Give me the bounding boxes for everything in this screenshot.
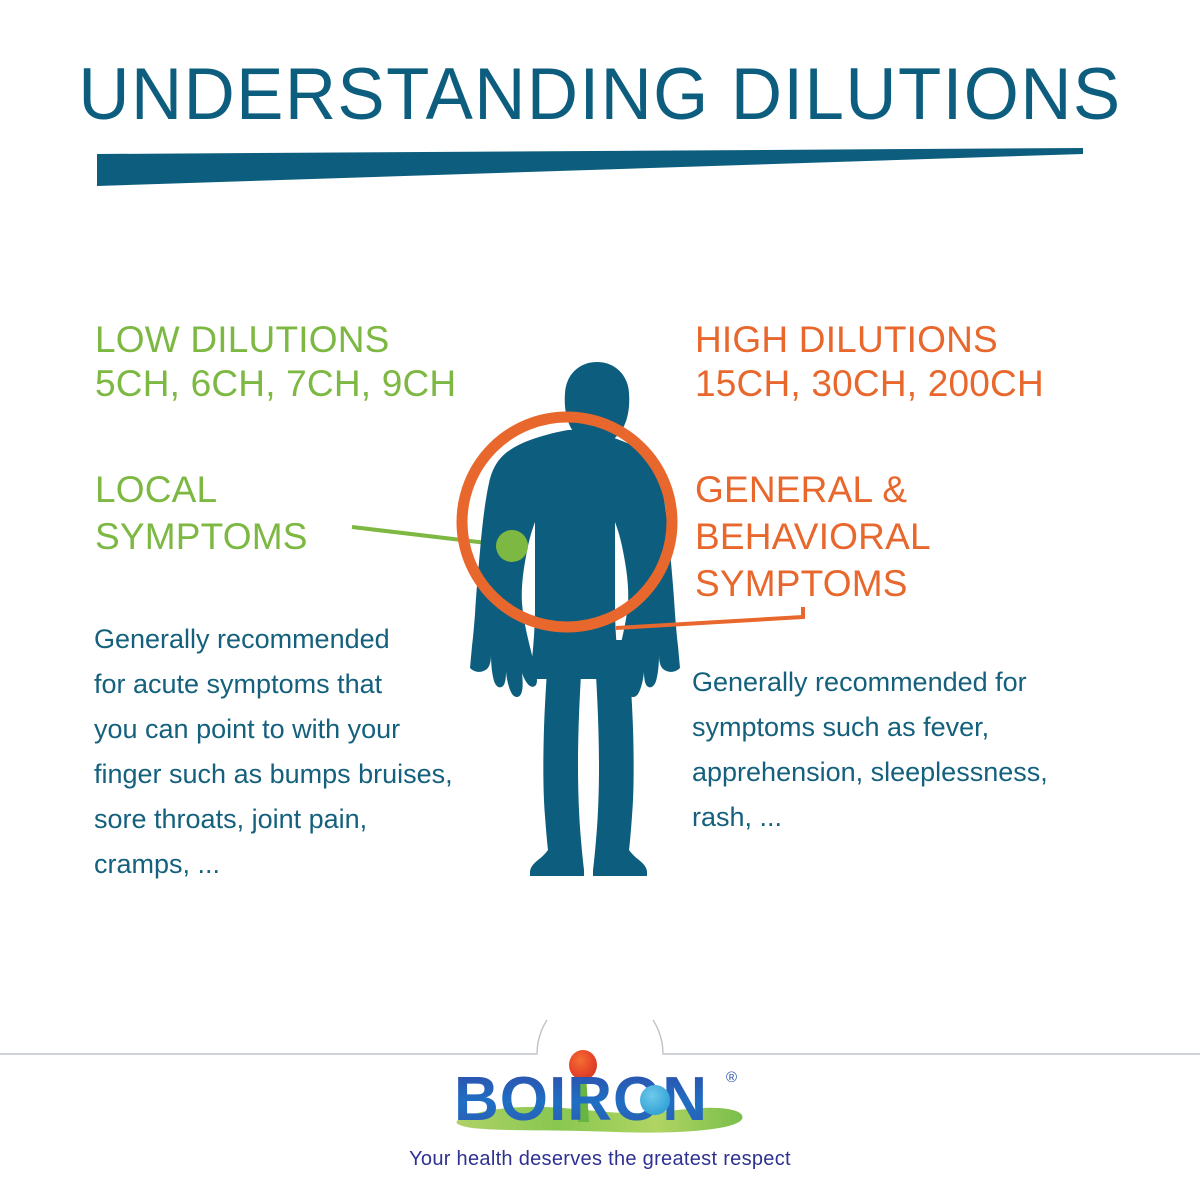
left-body-line-1: Generally recommended — [94, 617, 534, 662]
local-symptoms-description: Generally recommended for acute symptoms… — [94, 617, 534, 887]
right-body-line-2: symptoms such as fever, — [692, 705, 1112, 750]
boiron-logo: BOIRON ® — [450, 1050, 750, 1142]
high-dilutions-heading-line1: HIGH DILUTIONS — [695, 318, 1044, 362]
left-body-line-4: finger such as bumps bruises, — [94, 752, 534, 797]
right-body-line-3: apprehension, sleeplessness, — [692, 750, 1112, 795]
boiron-logo-block: BOIRON ® — [0, 1050, 1200, 1147]
right-body-line-4: rash, ... — [692, 795, 1112, 840]
general-symptoms-line3: SYMPTOMS — [695, 560, 931, 607]
page-title: UNDERSTANDING DILUTIONS — [18, 55, 1182, 135]
local-symptoms-heading: LOCAL SYMPTOMS — [95, 466, 308, 560]
high-dilutions-heading: HIGH DILUTIONS 15CH, 30CH, 200CH — [695, 318, 1044, 406]
blue-dot-accent — [640, 1085, 670, 1115]
title-underline-rule — [97, 148, 1083, 190]
infographic-page: UNDERSTANDING DILUTIONS LOW DILUTIONS 5C… — [0, 0, 1200, 1200]
title-block: UNDERSTANDING DILUTIONS — [0, 55, 1200, 135]
right-body-line-1: Generally recommended for — [692, 660, 1112, 705]
general-symptoms-highlight-circle — [462, 417, 672, 627]
left-body-line-6: cramps, ... — [94, 842, 534, 887]
local-symptom-marker-dot — [496, 530, 528, 562]
left-body-line-5: sore throats, joint pain, — [94, 797, 534, 842]
general-symptoms-leader-line — [616, 607, 803, 628]
low-dilutions-heading-line2: 5CH, 6CH, 7CH, 9CH — [95, 362, 456, 406]
general-symptoms-heading: GENERAL & BEHAVIORAL SYMPTOMS — [695, 466, 931, 607]
general-symptoms-line2: BEHAVIORAL — [695, 513, 931, 560]
left-body-line-3: you can point to with your — [94, 707, 534, 752]
local-symptoms-line2: SYMPTOMS — [95, 513, 308, 560]
general-symptoms-line1: GENERAL & — [695, 466, 931, 513]
left-body-line-2: for acute symptoms that — [94, 662, 534, 707]
brand-tagline: Your health deserves the greatest respec… — [0, 1148, 1200, 1171]
high-dilutions-heading-line2: 15CH, 30CH, 200CH — [695, 362, 1044, 406]
local-symptoms-leader-line — [352, 527, 512, 546]
local-symptoms-line1: LOCAL — [95, 466, 308, 513]
low-dilutions-heading-line1: LOW DILUTIONS — [95, 318, 456, 362]
general-symptoms-description: Generally recommended for symptoms such … — [692, 660, 1112, 840]
low-dilutions-heading: LOW DILUTIONS 5CH, 6CH, 7CH, 9CH — [95, 318, 456, 406]
registered-trademark-symbol: ® — [726, 1069, 737, 1086]
